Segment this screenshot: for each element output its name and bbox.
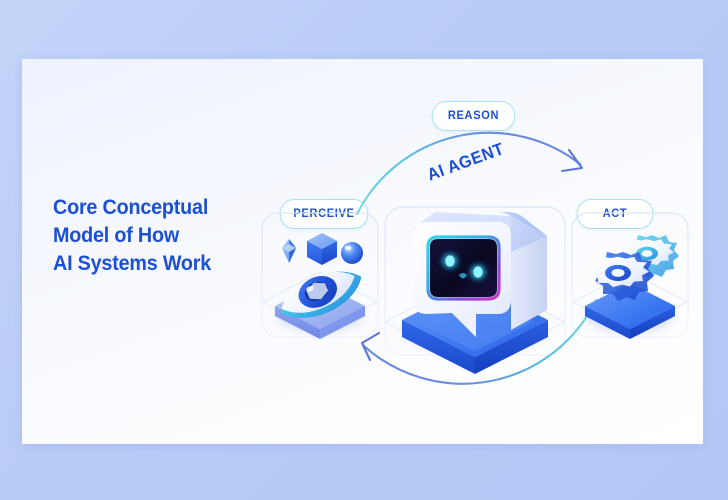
diamond-icon xyxy=(282,239,296,263)
isometric-scene xyxy=(0,0,728,500)
illustration-stage: Core Conceptual Model of How AI Systems … xyxy=(0,0,728,500)
sphere-icon xyxy=(341,242,363,264)
cube-icon xyxy=(307,233,337,265)
module-agent xyxy=(385,212,565,374)
module-act xyxy=(573,235,687,339)
module-perceive xyxy=(263,233,377,339)
